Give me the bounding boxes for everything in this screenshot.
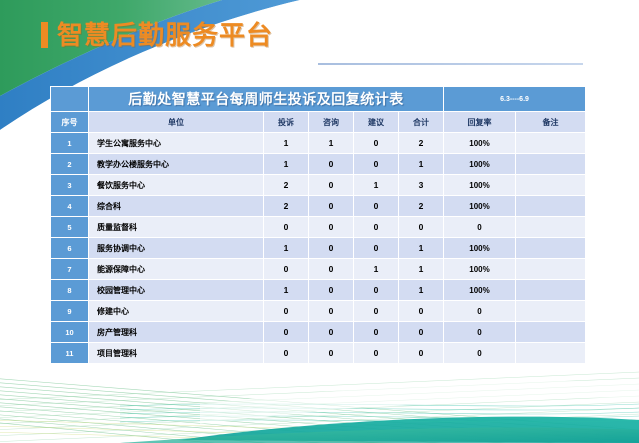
column-header-consult: 咨询 xyxy=(309,112,354,133)
cell-consult: 1 xyxy=(309,133,354,154)
cell-suggest: 0 xyxy=(354,343,399,364)
cell-total: 0 xyxy=(399,343,444,364)
cell-consult: 0 xyxy=(309,217,354,238)
cell-complaint: 1 xyxy=(264,238,309,259)
column-header-note: 备注 xyxy=(516,112,586,133)
cell-suggest: 0 xyxy=(354,322,399,343)
cell-suggest: 0 xyxy=(354,154,399,175)
cell-no: 10 xyxy=(51,322,89,343)
cell-note xyxy=(516,280,586,301)
cell-no: 3 xyxy=(51,175,89,196)
header-divider xyxy=(318,63,583,65)
cell-complaint: 0 xyxy=(264,259,309,280)
cell-consult: 0 xyxy=(309,175,354,196)
cell-rate: 100% xyxy=(444,196,516,217)
cell-unit: 教学办公楼服务中心 xyxy=(89,154,264,175)
table-title-spacer xyxy=(51,87,89,112)
cell-consult: 0 xyxy=(309,280,354,301)
cell-unit: 餐饮服务中心 xyxy=(89,175,264,196)
cell-consult: 0 xyxy=(309,196,354,217)
cell-complaint: 2 xyxy=(264,175,309,196)
cell-unit: 质量监督科 xyxy=(89,217,264,238)
table-row: 6 服务协调中心 1 0 0 1 100% xyxy=(51,238,586,259)
cell-total: 0 xyxy=(399,322,444,343)
cell-note xyxy=(516,301,586,322)
cell-suggest: 0 xyxy=(354,196,399,217)
cell-rate: 0 xyxy=(444,322,516,343)
cell-rate: 100% xyxy=(444,280,516,301)
table-caption: 后勤处智慧平台每周师生投诉及回复统计表 xyxy=(89,87,444,112)
table-header-row: 序号 单位 投诉 咨询 建议 合计 回复率 备注 xyxy=(51,112,586,133)
table-row: 2 教学办公楼服务中心 1 0 0 1 100% xyxy=(51,154,586,175)
cell-total: 0 xyxy=(399,217,444,238)
cell-rate: 0 xyxy=(444,343,516,364)
cell-note xyxy=(516,133,586,154)
table-row: 1 学生公寓服务中心 1 1 0 2 100% xyxy=(51,133,586,154)
cell-unit: 能源保障中心 xyxy=(89,259,264,280)
cell-note xyxy=(516,175,586,196)
cell-complaint: 0 xyxy=(264,343,309,364)
table-row: 10 房产管理科 0 0 0 0 0 xyxy=(51,322,586,343)
cell-suggest: 1 xyxy=(354,175,399,196)
cell-complaint: 0 xyxy=(264,301,309,322)
cell-complaint: 1 xyxy=(264,154,309,175)
table-row: 4 综合科 2 0 0 2 100% xyxy=(51,196,586,217)
cell-complaint: 1 xyxy=(264,133,309,154)
cell-unit: 项目管理科 xyxy=(89,343,264,364)
statistics-table: 后勤处智慧平台每周师生投诉及回复统计表 6.3----6.9 序号 单位 投诉 … xyxy=(50,86,586,364)
cell-rate: 0 xyxy=(444,301,516,322)
cell-no: 11 xyxy=(51,343,89,364)
cell-unit: 修建中心 xyxy=(89,301,264,322)
cell-no: 9 xyxy=(51,301,89,322)
cell-consult: 0 xyxy=(309,343,354,364)
cell-note xyxy=(516,259,586,280)
cell-suggest: 0 xyxy=(354,238,399,259)
cell-total: 1 xyxy=(399,238,444,259)
cell-suggest: 0 xyxy=(354,301,399,322)
column-header-complaint: 投诉 xyxy=(264,112,309,133)
page-title: 智慧后勤服务平台 xyxy=(57,18,273,52)
cell-suggest: 0 xyxy=(354,217,399,238)
cell-no: 2 xyxy=(51,154,89,175)
cell-consult: 0 xyxy=(309,259,354,280)
cell-rate: 100% xyxy=(444,259,516,280)
cell-complaint: 0 xyxy=(264,217,309,238)
cell-rate: 100% xyxy=(444,175,516,196)
column-header-no: 序号 xyxy=(51,112,89,133)
cell-note xyxy=(516,154,586,175)
cell-total: 1 xyxy=(399,280,444,301)
cell-note xyxy=(516,343,586,364)
cell-suggest: 1 xyxy=(354,259,399,280)
cell-no: 5 xyxy=(51,217,89,238)
cell-no: 7 xyxy=(51,259,89,280)
cell-total: 3 xyxy=(399,175,444,196)
cell-total: 1 xyxy=(399,154,444,175)
cell-rate: 100% xyxy=(444,238,516,259)
column-header-rate: 回复率 xyxy=(444,112,516,133)
cell-consult: 0 xyxy=(309,238,354,259)
cell-note xyxy=(516,322,586,343)
cell-unit: 学生公寓服务中心 xyxy=(89,133,264,154)
cell-total: 2 xyxy=(399,196,444,217)
cell-suggest: 0 xyxy=(354,280,399,301)
cell-no: 6 xyxy=(51,238,89,259)
cell-total: 2 xyxy=(399,133,444,154)
table-row: 3 餐饮服务中心 2 0 1 3 100% xyxy=(51,175,586,196)
cell-note xyxy=(516,196,586,217)
column-header-total: 合计 xyxy=(399,112,444,133)
cell-no: 8 xyxy=(51,280,89,301)
column-header-unit: 单位 xyxy=(89,112,264,133)
cell-complaint: 1 xyxy=(264,280,309,301)
cell-unit: 校园管理中心 xyxy=(89,280,264,301)
cell-rate: 100% xyxy=(444,133,516,154)
cell-note xyxy=(516,238,586,259)
cell-no: 4 xyxy=(51,196,89,217)
cell-total: 1 xyxy=(399,259,444,280)
cell-complaint: 0 xyxy=(264,322,309,343)
table-date-range: 6.3----6.9 xyxy=(444,87,586,112)
cell-no: 1 xyxy=(51,133,89,154)
cell-note xyxy=(516,217,586,238)
statistics-table-container: 后勤处智慧平台每周师生投诉及回复统计表 6.3----6.9 序号 单位 投诉 … xyxy=(50,86,585,364)
cell-unit: 房产管理科 xyxy=(89,322,264,343)
cell-rate: 100% xyxy=(444,154,516,175)
column-header-suggest: 建议 xyxy=(354,112,399,133)
cell-unit: 服务协调中心 xyxy=(89,238,264,259)
cell-rate: 0 xyxy=(444,217,516,238)
slide: 智慧后勤服务平台 后勤处智慧平台每周师生投诉及回复统计表 6.3----6.9 … xyxy=(0,0,639,443)
table-row: 8 校园管理中心 1 0 0 1 100% xyxy=(51,280,586,301)
slide-header: 智慧后勤服务平台 xyxy=(0,18,639,62)
table-row: 11 项目管理科 0 0 0 0 0 xyxy=(51,343,586,364)
title-accent-bar xyxy=(41,22,48,48)
cell-consult: 0 xyxy=(309,322,354,343)
table-row: 9 修建中心 0 0 0 0 0 xyxy=(51,301,586,322)
cell-consult: 0 xyxy=(309,154,354,175)
table-row: 5 质量监督科 0 0 0 0 0 xyxy=(51,217,586,238)
table-row: 7 能源保障中心 0 0 1 1 100% xyxy=(51,259,586,280)
cell-consult: 0 xyxy=(309,301,354,322)
cell-complaint: 2 xyxy=(264,196,309,217)
cell-unit: 综合科 xyxy=(89,196,264,217)
cell-suggest: 0 xyxy=(354,133,399,154)
cell-total: 0 xyxy=(399,301,444,322)
table-title-row: 后勤处智慧平台每周师生投诉及回复统计表 6.3----6.9 xyxy=(51,87,586,112)
